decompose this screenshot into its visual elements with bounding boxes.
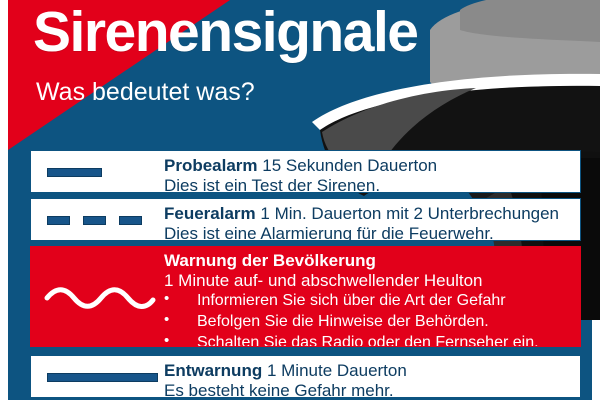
signal-name: Warnung der Bevölkerung xyxy=(164,251,580,270)
wavy-tone-line-icon xyxy=(31,247,164,346)
page-subtitle: Was bedeutet was? xyxy=(36,80,255,105)
signal-text-warnung: Warnung der Bevölkerung 1 Minute auf- un… xyxy=(164,247,580,347)
signal-duration: 1 Min. Dauerton mit 2 Unterbrechungen xyxy=(260,204,559,223)
list-item: Informieren Sie sich über die Art der Ge… xyxy=(164,290,580,311)
signal-description: Es besteht keine Gefahr mehr. xyxy=(164,381,394,398)
signal-text-entwarnung: Entwarnung 1 Minute Dauerton Es besteht … xyxy=(164,356,580,398)
continuous-tone-bar-long-icon xyxy=(31,356,164,397)
signal-name: Feueralarm xyxy=(164,204,256,223)
interrupted-tone-dashes-icon xyxy=(31,199,164,240)
page-title: Sirenensignale xyxy=(33,4,418,61)
signal-row-warnung[interactable]: Warnung der Bevölkerung 1 Minute auf- un… xyxy=(30,246,581,347)
signal-duration: 1 Minute Dauerton xyxy=(267,361,407,380)
signal-bullet-list: Informieren Sie sich über die Art der Ge… xyxy=(164,290,580,347)
signal-name: Entwarnung xyxy=(164,361,262,380)
signal-description: Dies ist ein Test der Sirenen. xyxy=(164,176,380,193)
signal-row-probealarm[interactable]: Probealarm 15 Sekunden Dauerton Dies ist… xyxy=(30,150,581,193)
signal-text-feueralarm: Feueralarm 1 Min. Dauerton mit 2 Unterbr… xyxy=(164,199,580,241)
signal-duration: 15 Sekunden Dauerton xyxy=(262,156,437,175)
signal-description: Dies ist eine Alarmierung für die Feuerw… xyxy=(164,224,494,241)
signal-duration: 1 Minute auf- und abschwellender Heulton xyxy=(164,271,580,290)
poster-root: Sirenensignale Was bedeutet was? Probeal… xyxy=(0,0,600,400)
list-item: Befolgen Sie die Hinweise der Behörden. xyxy=(164,311,580,332)
signal-row-entwarnung[interactable]: Entwarnung 1 Minute Dauerton Es besteht … xyxy=(30,355,581,398)
signal-name: Probealarm xyxy=(164,156,258,175)
signal-row-feueralarm[interactable]: Feueralarm 1 Min. Dauerton mit 2 Unterbr… xyxy=(30,198,581,241)
signal-text-probealarm: Probealarm 15 Sekunden Dauerton Dies ist… xyxy=(164,151,580,193)
list-item: Schalten Sie das Radio oder den Fernsehe… xyxy=(164,332,580,347)
continuous-tone-bar-icon xyxy=(31,151,164,192)
